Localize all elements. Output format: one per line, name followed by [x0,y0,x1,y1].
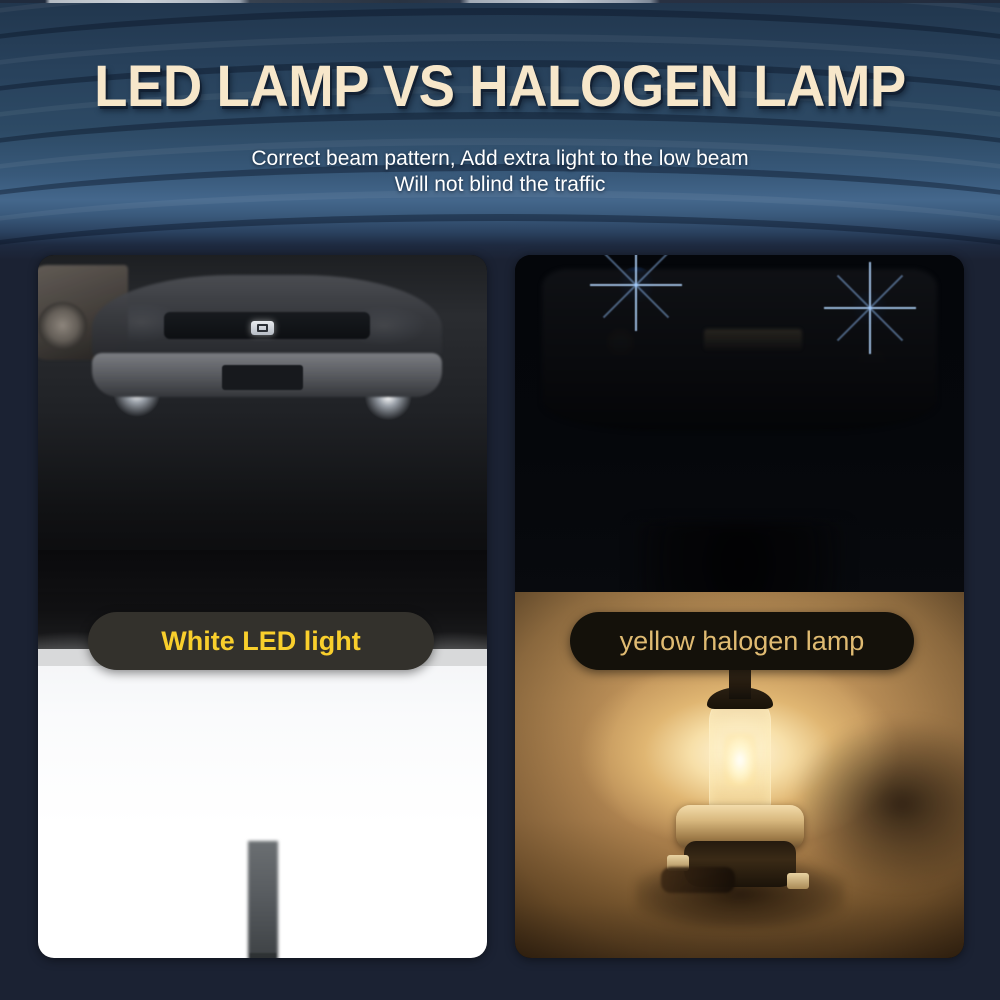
halogen-panel: yellow halogen lamp [515,255,964,958]
led-panel: White LED light [38,255,487,958]
halogen-bulb-tip [729,665,751,699]
halogen-bulb-wiring [661,867,735,893]
led-photo-bottom [38,666,487,958]
promo-banner: LED LAMP VS HALOGEN LAMP Correct beam pa… [0,0,1000,1000]
led-caption-label: White LED light [161,626,360,657]
license-plate [222,365,303,390]
halogen-caption-label: yellow halogen lamp [620,626,865,657]
halogen-filament-glow [723,733,757,787]
subtitle-line-1: Correct beam pattern, Add extra light to… [0,146,1000,172]
car-grille [704,329,803,350]
page-subtitle: Correct beam pattern, Add extra light to… [0,146,1000,198]
led-night-scene [38,255,487,592]
page-title: LED LAMP VS HALOGEN LAMP [30,58,970,116]
led-bulb [203,841,323,958]
background-wave-pattern [0,0,1000,270]
halogen-bulb [655,659,825,909]
halogen-base-tab-right [787,873,809,889]
dark-car-silhouette [542,269,937,431]
honda-badge-icon [251,321,273,335]
subtitle-line-2: Will not blind the traffic [0,172,1000,198]
halogen-caption-pill: yellow halogen lamp [570,612,914,670]
led-bulb-shaft [248,841,278,958]
led-bulb-chip-body [250,953,276,958]
top-edge-sliver [0,0,1000,3]
led-caption-pill: White LED light [88,612,434,670]
